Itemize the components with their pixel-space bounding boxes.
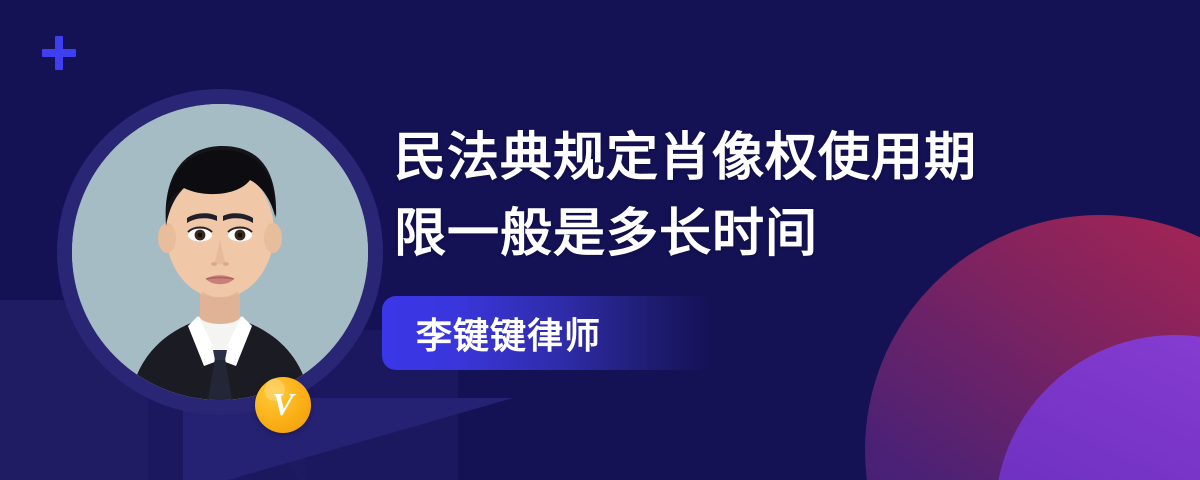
plus-icon-bar-vertical [55,36,63,70]
lawyer-name-label: 李键键律师 [416,307,601,359]
page-title-line-2: 限一般是多长时间 [394,196,1094,272]
avatar[interactable]: V [57,89,383,415]
page-title: 民法典规定肖像权使用期 限一般是多长时间 [394,120,1094,272]
verified-badge-glyph: V [255,377,311,433]
avatar-photo [72,104,368,400]
lawyer-name-badge[interactable]: 李键键律师 [382,296,712,370]
lawyer-topic-banner: V 民法典规定肖像权使用期 限一般是多长时间 李键键律师 [0,0,1200,480]
banner-content: 民法典规定肖像权使用期 限一般是多长时间 李键键律师 [394,120,1094,272]
plus-icon [42,36,76,70]
verified-badge-icon: V [255,377,311,433]
page-title-line-1: 民法典规定肖像权使用期 [394,120,1094,196]
